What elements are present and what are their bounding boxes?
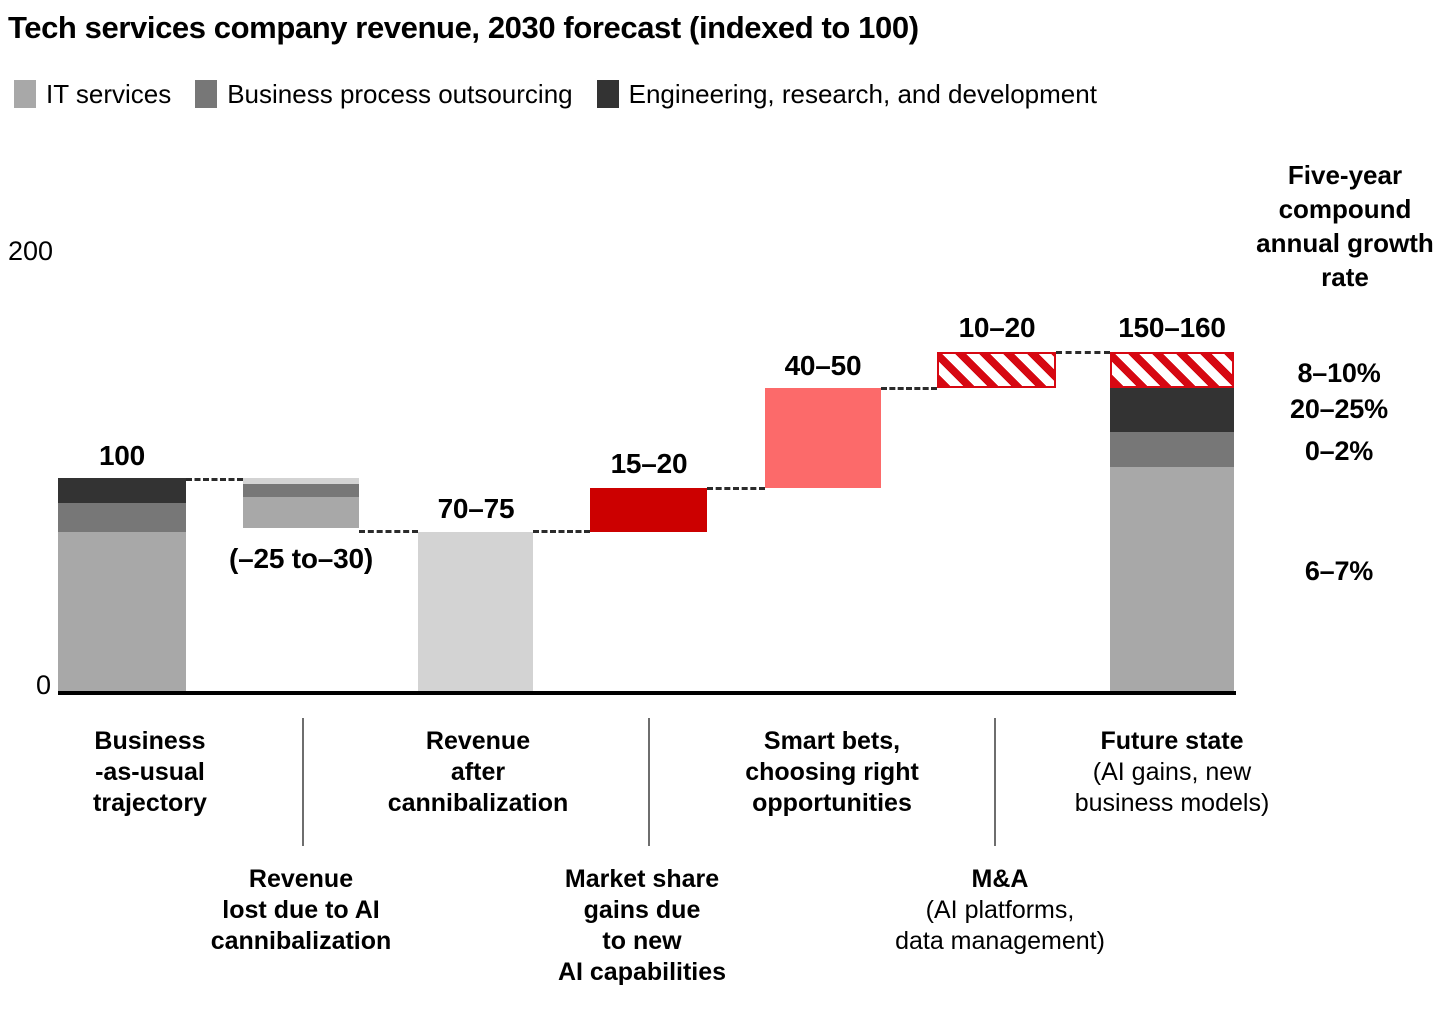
category-label-smart-bets: Smart bets, choosing right opportunities [702,726,962,819]
y-axis-tick-200: 200 [8,238,53,265]
value-label-smart-bets: 40–50 [748,350,898,382]
connector-cannibalization-to-after [359,530,418,533]
connector-after-to-market-share [533,530,590,533]
bar-cannibalization-segment-bpo [243,484,359,497]
value-label-cannibalization: (–25 to–30) [201,543,401,575]
bar-future-state-segment-it-services [1110,467,1234,691]
category-label-mna: M&A (AI platforms, data management) [870,864,1130,957]
category-label-cannibalization: Revenue lost due to AI cannibalization [170,864,432,957]
cagr-heading: Five-year compound annual growth rate [1252,158,1438,294]
category-label-market-share: Market share gains due to new AI capabil… [522,864,762,988]
category-label-after-cannibalization: Revenue after cannibalization [358,726,598,819]
bar-future-state-segment-erd [1110,388,1234,432]
bar-future-state-segment-bpo [1110,432,1234,467]
cagr-value-erd-smartbets: 8–10% [1246,358,1432,389]
value-label-mna: 10–20 [922,312,1072,344]
y-axis-tick-0: 0 [36,672,51,699]
value-label-future-state: 150–160 [1090,312,1254,344]
cagr-value-it-services: 6–7% [1246,556,1432,587]
value-label-after-cannibalization: 70–75 [400,493,552,525]
bar-bau-segment-bpo [58,503,186,532]
x-axis-baseline [58,691,1236,695]
value-label-bau: 100 [58,440,186,472]
bar-after-cannibalization [418,532,533,691]
connector-market-share-to-smart-bets [707,487,765,490]
bar-bau-segment-it-services [58,532,186,691]
bar-future-state-segment-mna [1110,352,1234,388]
waterfall-chart-plot: 200 0 100 (–25 to–30) 70–75 15–20 40–50 … [0,0,1440,1013]
value-label-market-share: 15–20 [574,448,724,480]
category-separator-1 [302,718,304,846]
bar-market-share-gains [590,488,707,532]
cagr-value-bpo: 0–2% [1246,436,1432,467]
connector-bau-to-cannibalization [186,478,243,481]
bar-bau-segment-erd [58,478,186,503]
category-label-future-state: Future state (AI gains, new business mod… [1050,726,1294,819]
category-label-bau: Business -as-usual trajectory [30,726,270,819]
category-separator-2 [648,718,650,846]
bar-mna-hatched [937,352,1056,388]
category-separator-3 [994,718,996,846]
cagr-value-erd: 20–25% [1246,394,1432,425]
connector-mna-to-future-state [1056,351,1110,354]
connector-smart-bets-to-mna [881,387,937,390]
bar-smart-bets [765,388,881,488]
bar-cannibalization-segment-it-services [243,497,359,528]
